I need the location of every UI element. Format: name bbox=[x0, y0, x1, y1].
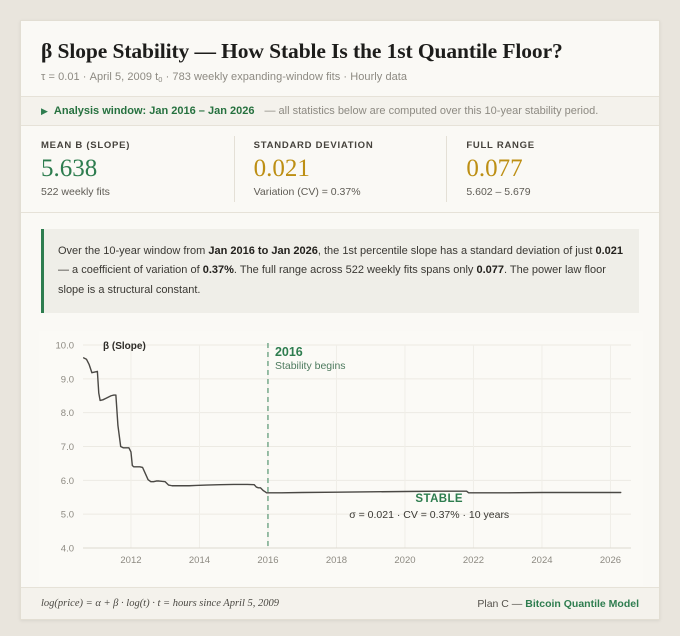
stat-mean-beta: MEAN β (SLOPE) 5.638 522 weekly fits bbox=[21, 140, 234, 198]
svg-text:2020: 2020 bbox=[394, 555, 415, 566]
svg-text:β (Slope): β (Slope) bbox=[103, 341, 146, 352]
stability-report-card: β Slope Stability — How Stable Is the 1s… bbox=[20, 20, 660, 620]
card-header: β Slope Stability — How Stable Is the 1s… bbox=[21, 21, 659, 96]
beta-slope-chart: 10.09.08.07.06.05.04.0201220142016201820… bbox=[39, 331, 643, 586]
svg-text:8.0: 8.0 bbox=[61, 408, 74, 419]
model-formula: log(price) = α + β · log(t) · t = hours … bbox=[41, 598, 279, 609]
svg-text:9.0: 9.0 bbox=[61, 374, 74, 385]
summary-callout: Over the 10-year window from Jan 2016 to… bbox=[41, 229, 639, 313]
stat-label: MEAN β (SLOPE) bbox=[41, 140, 214, 151]
stat-sub: 5.602 – 5.679 bbox=[466, 186, 639, 198]
stat-full-range: FULL RANGE 0.077 5.602 – 5.679 bbox=[446, 140, 659, 198]
callout-wrapper: Over the 10-year window from Jan 2016 to… bbox=[21, 213, 659, 317]
stat-label: STANDARD DEVIATION bbox=[254, 140, 427, 151]
svg-text:2016: 2016 bbox=[275, 345, 303, 359]
svg-text:σ = 0.021 · CV = 0.37% ·: σ = 0.021 · CV = 0.37% · 10 years bbox=[349, 509, 509, 521]
callout-text-1: Over the 10-year window from bbox=[58, 245, 208, 257]
stat-value: 0.077 bbox=[466, 155, 639, 183]
brand-credit: Plan C — Bitcoin Quantile Model bbox=[477, 598, 639, 610]
page-title: β Slope Stability — How Stable Is the 1s… bbox=[41, 39, 639, 64]
callout-bold-sigma: 0.021 bbox=[595, 245, 623, 257]
page-subtitle: τ = 0.01 · April 5, 2009 t0 · 783 weekly… bbox=[41, 71, 639, 84]
callout-text-3: — a coefficient of variation of bbox=[58, 264, 203, 276]
chart-svg: 10.09.08.07.06.05.04.0201220142016201820… bbox=[39, 331, 643, 586]
svg-text:2022: 2022 bbox=[463, 555, 484, 566]
subtitle-post: · 783 weekly expanding-window fits · Hou… bbox=[162, 71, 407, 83]
svg-text:4.0: 4.0 bbox=[61, 543, 74, 554]
stat-label: FULL RANGE bbox=[466, 140, 639, 151]
stat-value: 5.638 bbox=[41, 155, 214, 183]
stat-standard-deviation: STANDARD DEVIATION 0.021 Variation (CV) … bbox=[234, 140, 447, 198]
svg-text:2012: 2012 bbox=[120, 555, 141, 566]
svg-text:2024: 2024 bbox=[531, 555, 552, 566]
svg-text:Stability begins: Stability begins bbox=[275, 360, 346, 372]
svg-text:2026: 2026 bbox=[600, 555, 621, 566]
svg-text:2018: 2018 bbox=[326, 555, 347, 566]
svg-text:6.0: 6.0 bbox=[61, 476, 74, 487]
callout-bold-range: 0.077 bbox=[476, 264, 504, 276]
summary-stats-row: MEAN β (SLOPE) 5.638 522 weekly fits STA… bbox=[21, 126, 659, 213]
callout-text-4: . The full range across 522 weekly fits … bbox=[234, 264, 477, 276]
analysis-window-bar: ▶ Analysis window: Jan 2016 – Jan 2026 —… bbox=[21, 96, 659, 126]
brand-prefix: Plan C — bbox=[477, 598, 525, 610]
brand-name: Bitcoin Quantile Model bbox=[525, 598, 639, 610]
callout-text-2: , the 1st percentile slope has a standar… bbox=[318, 245, 596, 257]
stat-sub: 522 weekly fits bbox=[41, 186, 214, 198]
svg-text:7.0: 7.0 bbox=[61, 442, 74, 453]
analysis-window-note: — all statistics below are computed over… bbox=[264, 105, 598, 117]
svg-text:2014: 2014 bbox=[189, 555, 210, 566]
stat-value: 0.021 bbox=[254, 155, 427, 183]
callout-bold-window: Jan 2016 to Jan 2026 bbox=[208, 245, 317, 257]
subtitle-pre: τ = 0.01 · April 5, 2009 t bbox=[41, 71, 158, 83]
svg-text:10.0: 10.0 bbox=[56, 340, 75, 351]
callout-bold-cv: 0.37% bbox=[203, 264, 234, 276]
analysis-window-range: Analysis window: Jan 2016 – Jan 2026 bbox=[54, 105, 255, 117]
triangle-right-icon: ▶ bbox=[41, 107, 48, 116]
svg-text:2016: 2016 bbox=[257, 555, 278, 566]
svg-text:STABLE: STABLE bbox=[415, 493, 463, 505]
card-footer: log(price) = α + β · log(t) · t = hours … bbox=[21, 587, 659, 619]
chart-wrapper: 10.09.08.07.06.05.04.0201220142016201820… bbox=[21, 317, 659, 586]
svg-text:5.0: 5.0 bbox=[61, 509, 74, 520]
stat-sub: Variation (CV) = 0.37% bbox=[254, 186, 427, 198]
